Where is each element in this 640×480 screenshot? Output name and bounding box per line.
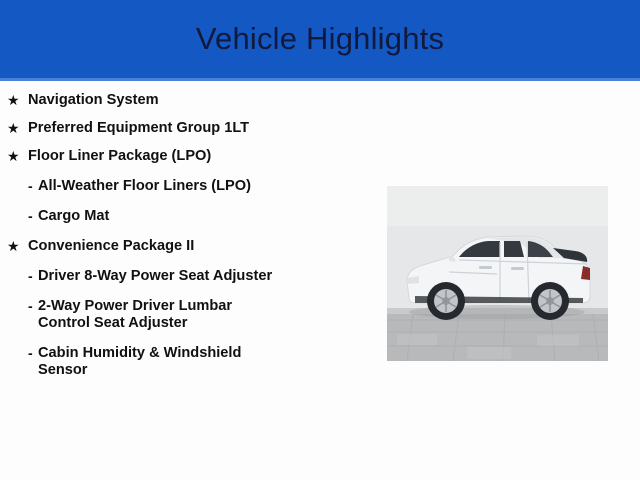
vehicle-photo (387, 186, 608, 361)
star-bullet-icon: ★ (7, 92, 28, 109)
star-bullet-icon: ★ (7, 148, 28, 165)
list-item-label: Preferred Equipment Group 1LT (28, 120, 375, 137)
list-item: ★Navigation System (0, 92, 375, 109)
rear-wheel (531, 282, 569, 320)
list-item-label: Convenience Package II (28, 238, 375, 255)
dash-bullet-icon: - (28, 178, 38, 195)
vehicle-highlights-list: ★Navigation System★Preferred Equipment G… (0, 81, 375, 392)
list-item-label: Cabin Humidity & Windshield Sensor (38, 345, 375, 379)
front-wheel (427, 282, 465, 320)
list-item: -Cargo Mat (0, 208, 375, 225)
dash-bullet-icon: - (28, 298, 38, 315)
list-item: ★Preferred Equipment Group 1LT (0, 120, 375, 137)
dash-bullet-icon: - (28, 208, 38, 225)
page-title: Vehicle Highlights (0, 0, 640, 78)
list-item-label: Floor Liner Package (LPO) (28, 148, 375, 165)
dash-bullet-icon: - (28, 345, 38, 362)
list-item: ★Floor Liner Package (LPO) (0, 148, 375, 165)
list-item: -2-Way Power Driver Lumbar Control Seat … (0, 298, 375, 332)
list-item-label: 2-Way Power Driver Lumbar Control Seat A… (38, 298, 375, 332)
list-item-label: Navigation System (28, 92, 375, 109)
content-area: ★Navigation System★Preferred Equipment G… (0, 81, 640, 480)
list-item: ★Convenience Package II (0, 238, 375, 255)
list-item-label: Cargo Mat (38, 208, 375, 225)
list-item-label: All-Weather Floor Liners (LPO) (38, 178, 375, 195)
vehicle-illustration (387, 186, 608, 361)
list-item: -Driver 8-Way Power Seat Adjuster (0, 268, 375, 285)
list-item-label: Driver 8-Way Power Seat Adjuster (38, 268, 375, 285)
star-bullet-icon: ★ (7, 120, 28, 137)
dash-bullet-icon: - (28, 268, 38, 285)
star-bullet-icon: ★ (7, 238, 28, 255)
list-item: -All-Weather Floor Liners (LPO) (0, 178, 375, 195)
list-item: -Cabin Humidity & Windshield Sensor (0, 345, 375, 379)
